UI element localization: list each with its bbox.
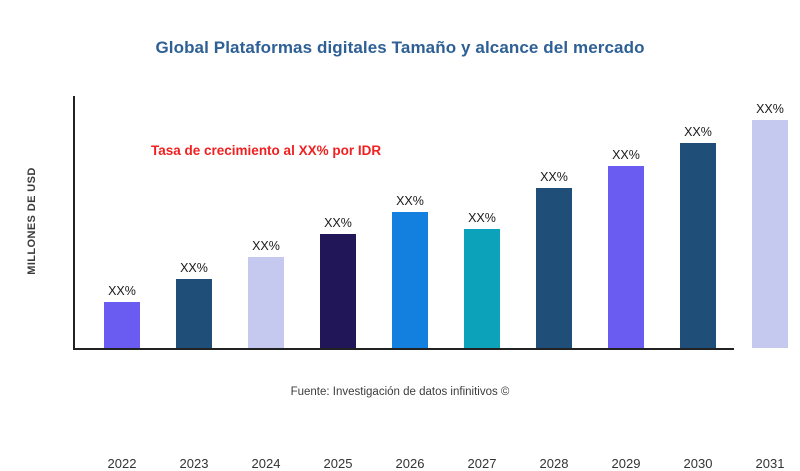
bar-2022[interactable] — [104, 302, 140, 348]
x-tick-2025: 2025 — [301, 456, 375, 471]
bar-group: XX% — [320, 234, 356, 348]
bar-group: XX% — [608, 166, 644, 348]
x-tick-2022: 2022 — [85, 456, 159, 471]
bar-2023[interactable] — [176, 279, 212, 348]
x-tick-2031: 2031 — [733, 456, 800, 471]
y-axis-line — [73, 96, 75, 350]
x-axis-line — [73, 348, 734, 350]
x-tick-2030: 2030 — [661, 456, 735, 471]
bar-group: XX% — [464, 229, 500, 348]
bar-value-label: XX% — [378, 194, 442, 208]
bar-group: XX% — [248, 257, 284, 348]
bar-value-label: XX% — [594, 148, 658, 162]
x-tick-2027: 2027 — [445, 456, 519, 471]
bar-2027[interactable] — [464, 229, 500, 348]
bar-2026[interactable] — [392, 212, 428, 348]
bar-chart: Global Plataformas digitales Tamaño y al… — [0, 0, 800, 450]
bar-value-label: XX% — [522, 170, 586, 184]
growth-rate-annotation: Tasa de crecimiento al XX% por IDR — [151, 143, 381, 158]
chart-title: Global Plataformas digitales Tamaño y al… — [0, 38, 800, 58]
bar-2030[interactable] — [680, 143, 716, 348]
bar-value-label: XX% — [234, 239, 298, 253]
bar-group: XX% — [536, 188, 572, 348]
x-tick-2029: 2029 — [589, 456, 663, 471]
bar-value-label: XX% — [666, 125, 730, 139]
bar-value-label: XX% — [90, 284, 154, 298]
bar-group: XX% — [680, 143, 716, 348]
bar-value-label: XX% — [738, 102, 800, 116]
bar-2025[interactable] — [320, 234, 356, 348]
plot-area: Tasa de crecimiento al XX% por IDR XX%XX… — [73, 96, 734, 350]
bar-2028[interactable] — [536, 188, 572, 348]
bar-2029[interactable] — [608, 166, 644, 348]
bar-2024[interactable] — [248, 257, 284, 348]
source-note: Fuente: Investigación de datos infinitiv… — [0, 386, 800, 398]
bar-value-label: XX% — [306, 216, 370, 230]
x-tick-2023: 2023 — [157, 456, 231, 471]
bar-group: XX% — [176, 279, 212, 348]
bar-group: XX% — [752, 120, 788, 348]
x-tick-2026: 2026 — [373, 456, 447, 471]
bar-group: XX% — [104, 302, 140, 348]
bar-value-label: XX% — [162, 261, 226, 275]
x-tick-2028: 2028 — [517, 456, 591, 471]
y-axis-title: MILLONES DE USD — [26, 106, 38, 336]
bar-group: XX% — [392, 212, 428, 348]
x-tick-2024: 2024 — [229, 456, 303, 471]
bar-2031[interactable] — [752, 120, 788, 348]
bar-value-label: XX% — [450, 211, 514, 225]
